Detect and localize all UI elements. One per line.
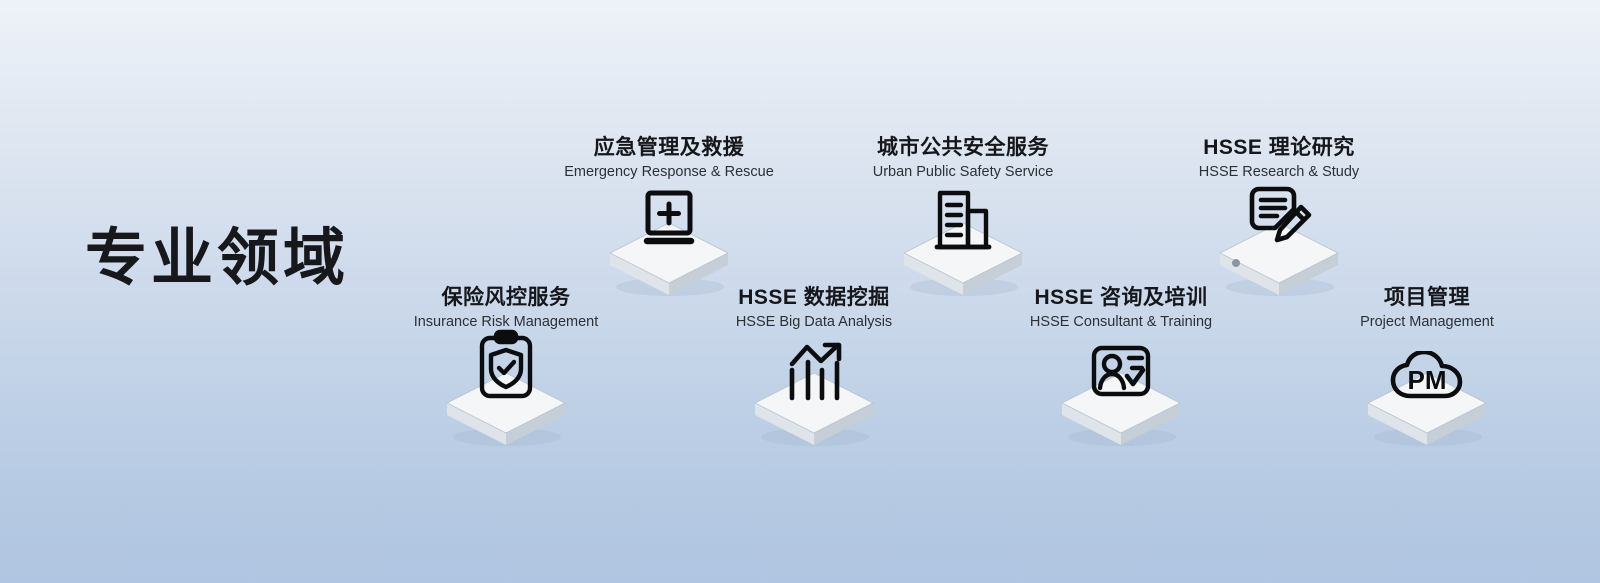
domain-label-en: Project Management [1277,313,1577,333]
domain-tile [971,332,1271,447]
domain-label-cn: 项目管理 [1277,286,1577,311]
domain-label-en: Urban Public Safety Service [813,163,1113,183]
domain-tile [664,332,964,447]
id-card-person-check-icon [1089,343,1153,401]
domain-item-emergency-response-rescue[interactable]: 应急管理及救援 Emergency Response & Rescue [519,136,819,297]
clipboard-shield-check-icon [475,329,537,401]
domain-item-hsse-big-data-analysis[interactable]: HSSE 数据挖掘 HSSE Big Data Analysis [664,286,964,447]
domain-label-cn: 应急管理及救援 [519,136,819,161]
domain-label-cn: HSSE 理论研究 [1129,136,1429,161]
city-buildings-icon [934,189,992,251]
domain-label-en: Emergency Response & Rescue [519,163,819,183]
domain-item-labels: 项目管理 Project Management [1277,286,1577,332]
pedestal-dot [1232,259,1240,267]
domain-tile [519,182,819,297]
domain-item-labels: HSSE 理论研究 HSSE Research & Study [1129,136,1429,182]
domain-tile: PM [1277,332,1577,447]
cloud-pm-icon: PM [1390,351,1464,401]
domain-label-cn: 城市公共安全服务 [813,136,1113,161]
domain-tile [356,332,656,447]
domain-label-en: HSSE Big Data Analysis [664,313,964,333]
domain-item-labels: 应急管理及救援 Emergency Response & Rescue [519,136,819,182]
domain-item-project-management[interactable]: 项目管理 Project Management PM [1277,286,1577,447]
professional-domains-banner: 专业领域 保险风控服务 Insurance Risk Management [0,0,1600,583]
domain-tile [1129,182,1429,297]
domain-tile [813,182,1113,297]
domain-item-hsse-consultant-training[interactable]: HSSE 咨询及培训 HSSE Consultant & Training [971,286,1271,447]
cloud-pm-label: PM [1408,365,1447,395]
domain-label-en: HSSE Research & Study [1129,163,1429,183]
domain-label-en: HSSE Consultant & Training [971,313,1271,333]
bar-chart-growth-icon [783,339,845,401]
domain-item-insurance-risk-management[interactable]: 保险风控服务 Insurance Risk Management [356,286,656,447]
domain-item-hsse-research-study[interactable]: HSSE 理论研究 HSSE Research & Study [1129,136,1429,297]
document-pencil-icon [1245,185,1313,251]
domain-item-labels: 城市公共安全服务 Urban Public Safety Service [813,136,1113,182]
domain-item-urban-public-safety-service[interactable]: 城市公共安全服务 Urban Public Safety Service [813,136,1113,297]
first-aid-kit-icon [638,189,700,251]
page-title: 专业领域 [85,228,349,290]
